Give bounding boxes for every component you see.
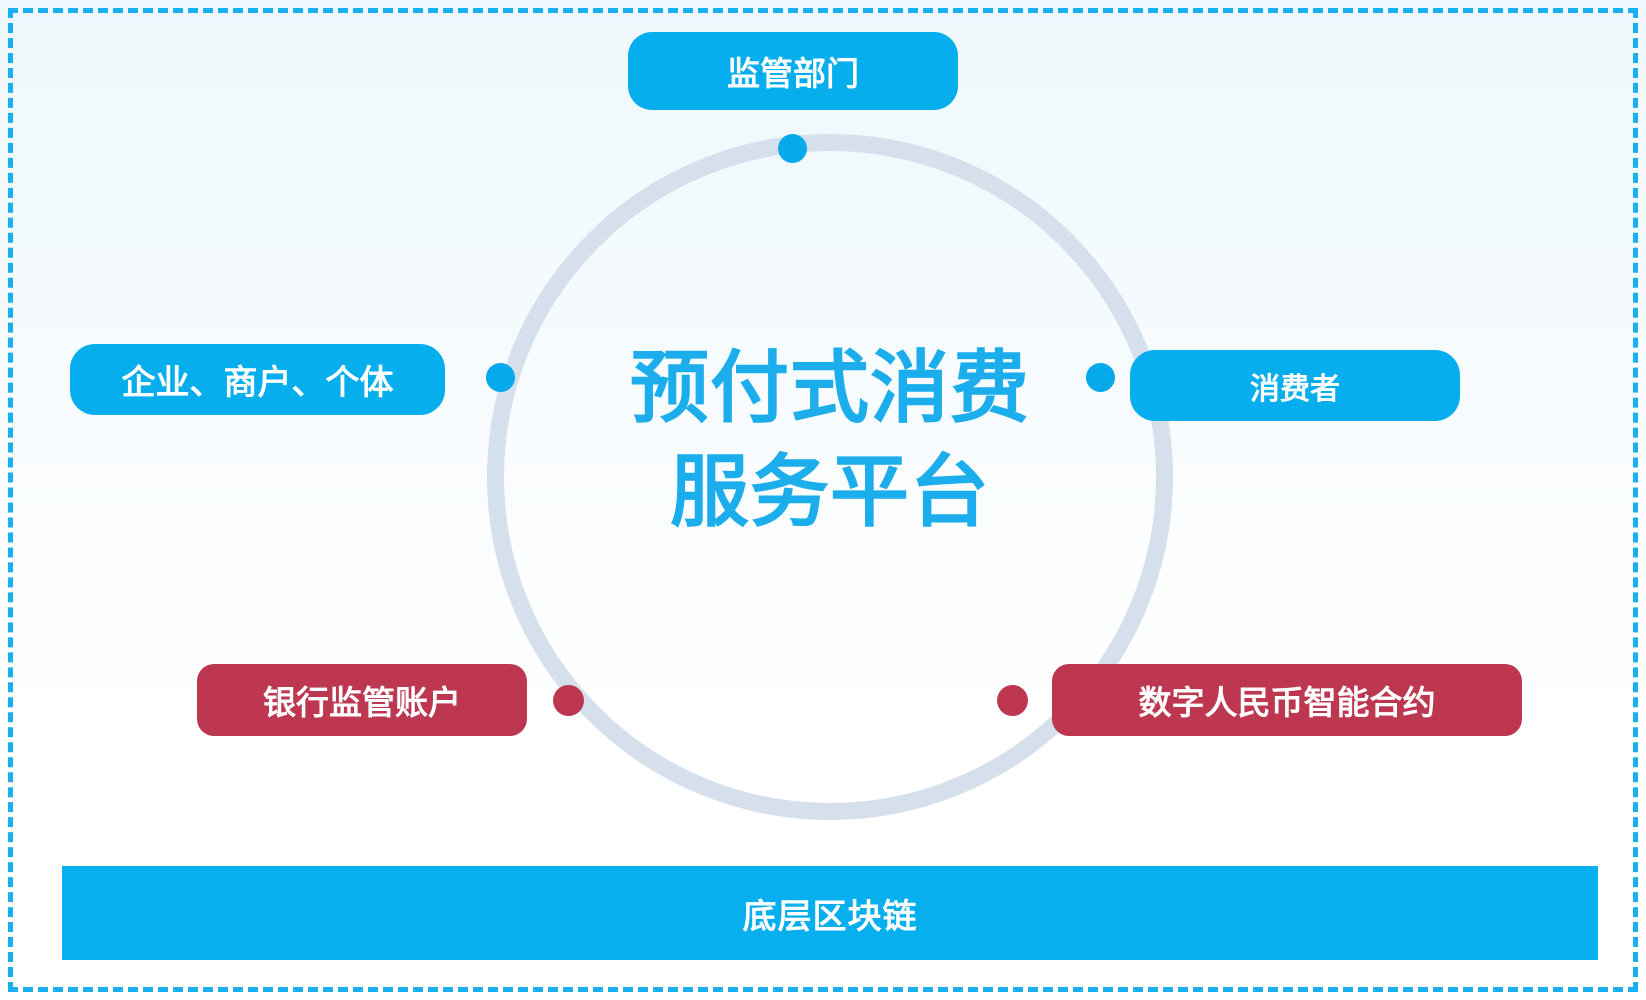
node-consumer[interactable]: 消费者 — [1130, 350, 1460, 421]
center-label-line-2: 服务平台 — [560, 440, 1100, 544]
node-smart-contract[interactable]: 数字人民币智能合约 — [1052, 664, 1522, 736]
node-business-label: 企业、商户、个体 — [122, 355, 394, 404]
node-regulator[interactable]: 监管部门 — [628, 32, 958, 110]
node-bank-account[interactable]: 银行监管账户 — [197, 664, 527, 736]
node-smart-contract-label: 数字人民币智能合约 — [1139, 676, 1436, 724]
diagram-canvas: 预付式消费 服务平台 监管部门 企业、商户、个体 消费者 银行监管账户 数字人民… — [0, 0, 1646, 1000]
node-bank-account-label: 银行监管账户 — [263, 676, 461, 724]
connector-dot-bottom-right — [997, 685, 1028, 716]
foundation-blockchain-bar[interactable]: 底层区块链 — [62, 866, 1598, 960]
foundation-blockchain-label: 底层区块链 — [743, 889, 918, 938]
node-consumer-label: 消费者 — [1250, 364, 1340, 408]
connector-dot-top — [778, 134, 807, 163]
center-label-line-1: 预付式消费 — [560, 336, 1100, 440]
center-platform-label: 预付式消费 服务平台 — [560, 336, 1100, 545]
node-regulator-label: 监管部门 — [727, 47, 859, 95]
connector-dot-bottom-left — [553, 685, 584, 716]
connector-dot-left — [486, 363, 515, 392]
node-business[interactable]: 企业、商户、个体 — [70, 344, 445, 415]
